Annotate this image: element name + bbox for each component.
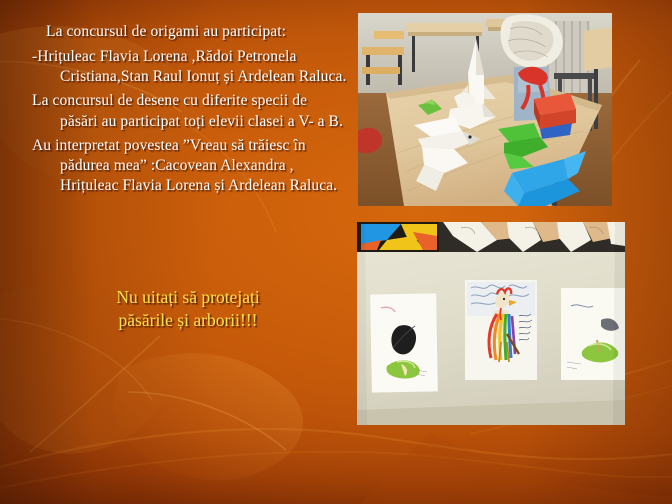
paragraph-drawing-contest: La concursul de desene cu diferite speci… <box>18 91 348 131</box>
paragraph-origami-names: -Hrițuleac Flavia Lorena ,Rădoi Petronel… <box>18 47 348 87</box>
closing-line-1: Nu uitați să protejați <box>116 287 259 307</box>
photo-bird-drawings-on-wall[interactable] <box>357 222 625 425</box>
paragraph-origami-intro: La concursul de origami au participat: <box>18 22 348 42</box>
closing-message: Nu uitați să protejați păsările și arbor… <box>38 286 338 332</box>
closing-line-2: păsările și arborii!!! <box>38 309 338 332</box>
presentation-slide: La concursul de origami au participat: -… <box>0 0 672 504</box>
photo-origami-on-desk[interactable] <box>358 13 612 206</box>
body-text-block: La concursul de origami au participat: -… <box>18 22 348 200</box>
paragraph-story-performance: Au interpretat povestea ”Vreau să trăies… <box>18 136 348 196</box>
